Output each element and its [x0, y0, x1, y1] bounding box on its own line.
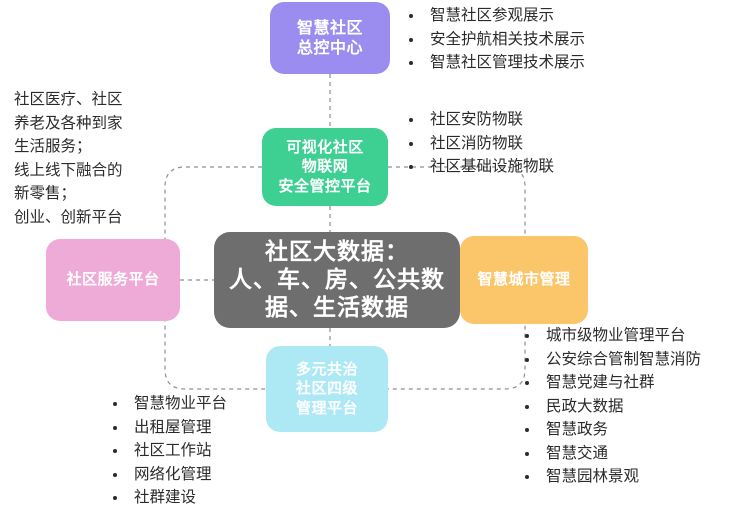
list-item: 智慧交通	[520, 442, 701, 466]
list-item: 智慧物业平台	[108, 392, 227, 416]
node-governance-platform[interactable]: 多元共治 社区四级 管理平台	[266, 346, 388, 432]
annotation-list-governance: 智慧物业平台出租屋管理社区工作站网络化管理社群建设	[108, 392, 227, 510]
node-governance-platform-label: 多元共治 社区四级 管理平台	[296, 360, 358, 418]
list-item: 网络化管理	[108, 463, 227, 487]
list-item: 社区安防物联	[404, 108, 554, 132]
list-item: 智慧政务	[520, 418, 701, 442]
list-item: 出租屋管理	[108, 416, 227, 440]
hub-node-label: 社区大数据： 人、车、房、公共数 据、生活数据	[229, 238, 445, 322]
list-item: 智慧党建与社群	[520, 371, 701, 395]
node-iot-platform[interactable]: 可视化社区 物联网 安全管控平台	[262, 128, 388, 206]
list-item: 智慧社区管理技术展示	[404, 51, 585, 75]
node-service-platform-label: 社区服务平台	[66, 270, 159, 289]
node-command-center[interactable]: 智慧社区 总控中心	[270, 2, 390, 74]
annotation-list-command-center: 智慧社区参观展示安全护航相关技术展示智慧社区管理技术展示	[404, 4, 585, 75]
node-iot-platform-label: 可视化社区 物联网 安全管控平台	[278, 138, 371, 196]
node-city-management[interactable]: 智慧城市管理	[460, 236, 588, 324]
list-item: 智慧社区参观展示	[404, 4, 585, 28]
list-item: 社区消防物联	[404, 132, 554, 156]
list-item: 安全护航相关技术展示	[404, 28, 585, 52]
hub-node-community-big-data[interactable]: 社区大数据： 人、车、房、公共数 据、生活数据	[214, 232, 460, 328]
list-item: 智慧园林景观	[520, 465, 701, 489]
list-item: 城市级物业管理平台	[520, 324, 701, 348]
diagram-canvas: 社区大数据： 人、车、房、公共数 据、生活数据 智慧社区 总控中心 可视化社区 …	[0, 0, 740, 512]
node-service-platform[interactable]: 社区服务平台	[46, 239, 180, 321]
annotation-text-service-scope: 社区医疗、社区 养老及各种到家 生活服务； 线上线下融合的 新零售； 创业、创新…	[14, 88, 194, 229]
list-item: 社区工作站	[108, 439, 227, 463]
list-item: 民政大数据	[520, 395, 701, 419]
annotation-list-city-management: 城市级物业管理平台公安综合管制智慧消防智慧党建与社群民政大数据智慧政务智慧交通智…	[520, 324, 701, 489]
list-item: 社区基础设施物联	[404, 155, 554, 179]
node-city-management-label: 智慧城市管理	[477, 270, 570, 289]
list-item: 公安综合管制智慧消防	[520, 348, 701, 372]
list-item: 社群建设	[108, 486, 227, 510]
node-command-center-label: 智慧社区 总控中心	[297, 18, 363, 59]
annotation-list-iot: 社区安防物联社区消防物联社区基础设施物联	[404, 108, 554, 179]
